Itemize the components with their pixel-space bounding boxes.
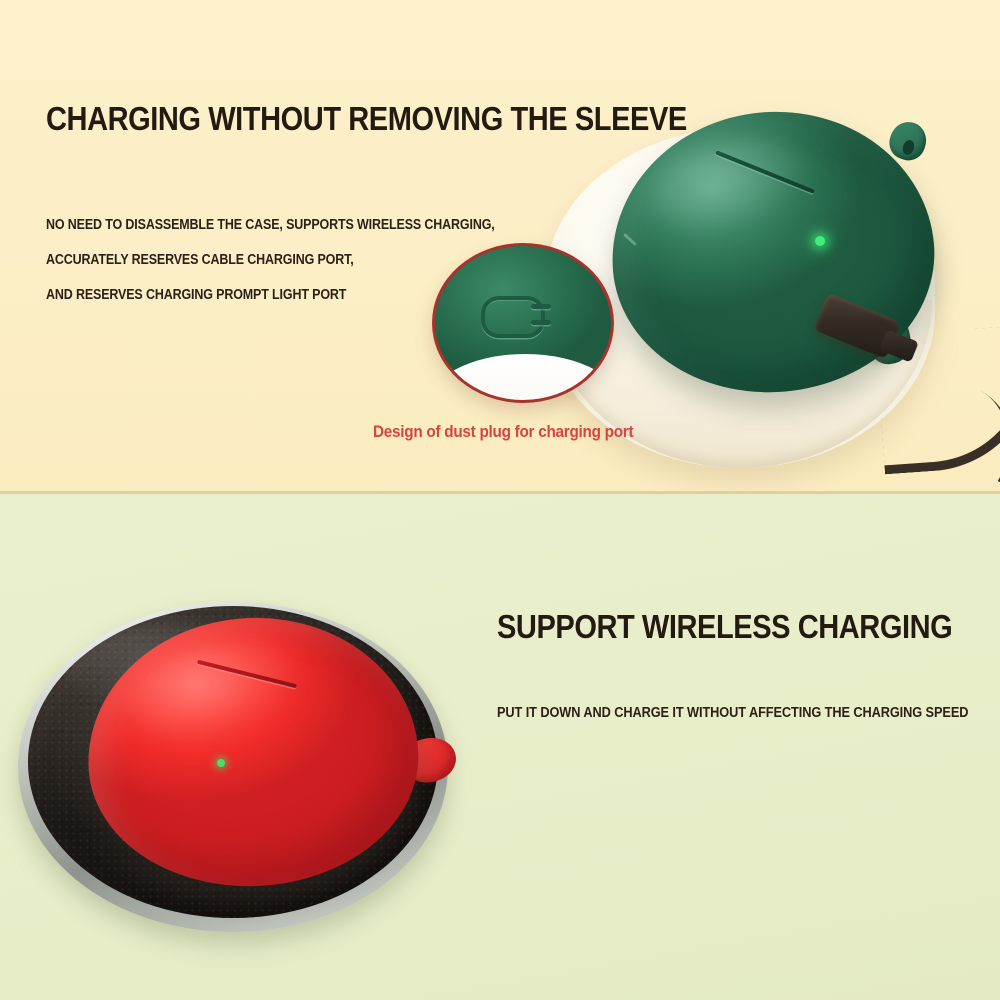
dust-plug-tab-upper bbox=[531, 304, 551, 309]
top-panel-body-line-1: NO NEED TO DISASSEMBLE THE CASE, SUPPORT… bbox=[46, 217, 495, 233]
dust-plug-tab-lower bbox=[531, 320, 551, 325]
inset-white-arc bbox=[432, 354, 614, 403]
panel-divider bbox=[0, 491, 1000, 495]
red-case-led-indicator bbox=[217, 759, 225, 767]
dust-plug-caption: Design of dust plug for charging port bbox=[373, 422, 633, 442]
bottom-panel-headline: SUPPORT WIRELESS CHARGING bbox=[497, 608, 952, 646]
top-panel-body-line-2: ACCURATELY RESERVES CABLE CHARGING PORT, bbox=[46, 252, 354, 268]
usb-c-port-outline-icon bbox=[481, 296, 545, 338]
charging-led-indicator bbox=[815, 236, 825, 246]
product-feature-image: CHARGING WITHOUT REMOVING THE SLEEVE NO … bbox=[0, 0, 1000, 1000]
bottom-panel-subtitle: PUT IT DOWN AND CHARGE IT WITHOUT AFFECT… bbox=[497, 705, 968, 721]
magnifier-inset-charging-port bbox=[432, 243, 614, 403]
top-panel-body-line-3: AND RESERVES CHARGING PROMPT LIGHT PORT bbox=[46, 287, 346, 303]
top-panel: CHARGING WITHOUT REMOVING THE SLEEVE NO … bbox=[0, 0, 1000, 493]
top-panel-headline: CHARGING WITHOUT REMOVING THE SLEEVE bbox=[46, 100, 687, 138]
